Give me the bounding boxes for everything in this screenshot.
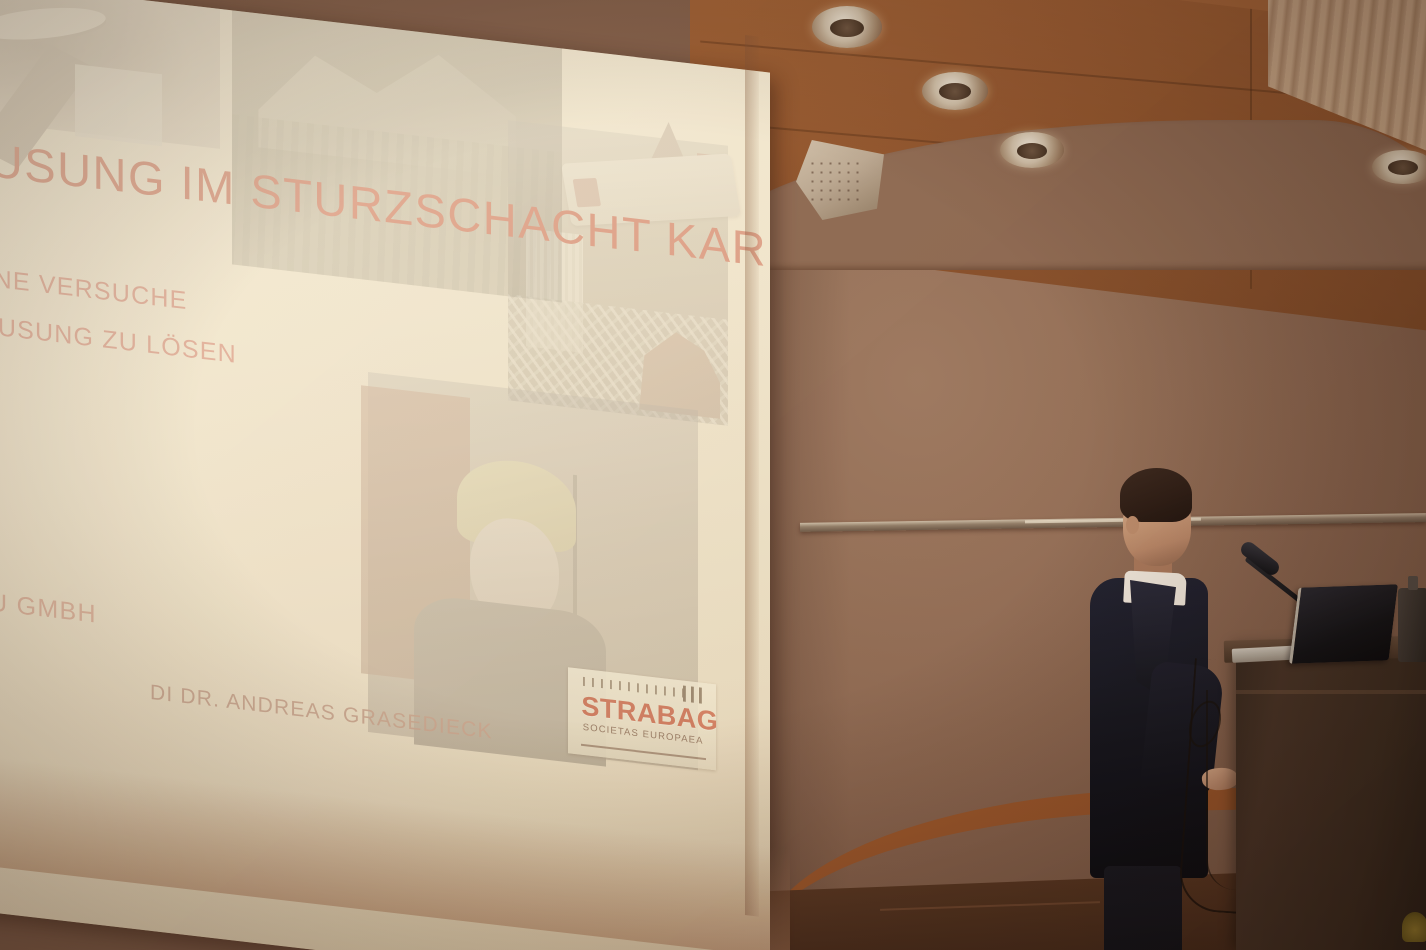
downlight-2-icon (922, 72, 988, 110)
downlight-4-icon (1372, 150, 1426, 184)
thermos-bottle (1398, 588, 1426, 662)
bottle-cap (1408, 576, 1419, 590)
slide-subtitle-1: CHIEDENE VERSUCHE (0, 253, 187, 316)
presenter-legs (1104, 866, 1182, 950)
presenter-ear (1126, 516, 1139, 534)
downlight-1-icon (812, 6, 882, 48)
downlight-3-icon (1000, 132, 1064, 168)
slide-organisation: AL ABBAU GMBH (0, 575, 97, 629)
logo-bars (683, 686, 707, 704)
presenter-hair (1120, 468, 1192, 522)
speaker-grille (808, 159, 863, 203)
projected-slide: STRABAG SOCIETAS EUROPAEA RKLAUSUNG IM S… (0, 0, 770, 950)
smiling-person-photo (0, 0, 220, 149)
slide-subtitle-2: VERKLAUSUNG ZU LÖSEN (0, 301, 237, 370)
plant-decoration (1402, 912, 1426, 942)
construction-site-photo (508, 120, 728, 425)
projection-screen: STRABAG SOCIETAS EUROPAEA RKLAUSUNG IM S… (0, 0, 770, 950)
strabag-logo: STRABAG SOCIETAS EUROPAEA (568, 667, 716, 770)
podium-front-edge (1236, 690, 1426, 694)
screen-right-edge (745, 35, 759, 917)
laptop-screen[interactable] (1289, 584, 1398, 663)
presentation-room-scene: STRABAG SOCIETAS EUROPAEA RKLAUSUNG IM S… (0, 0, 1426, 950)
